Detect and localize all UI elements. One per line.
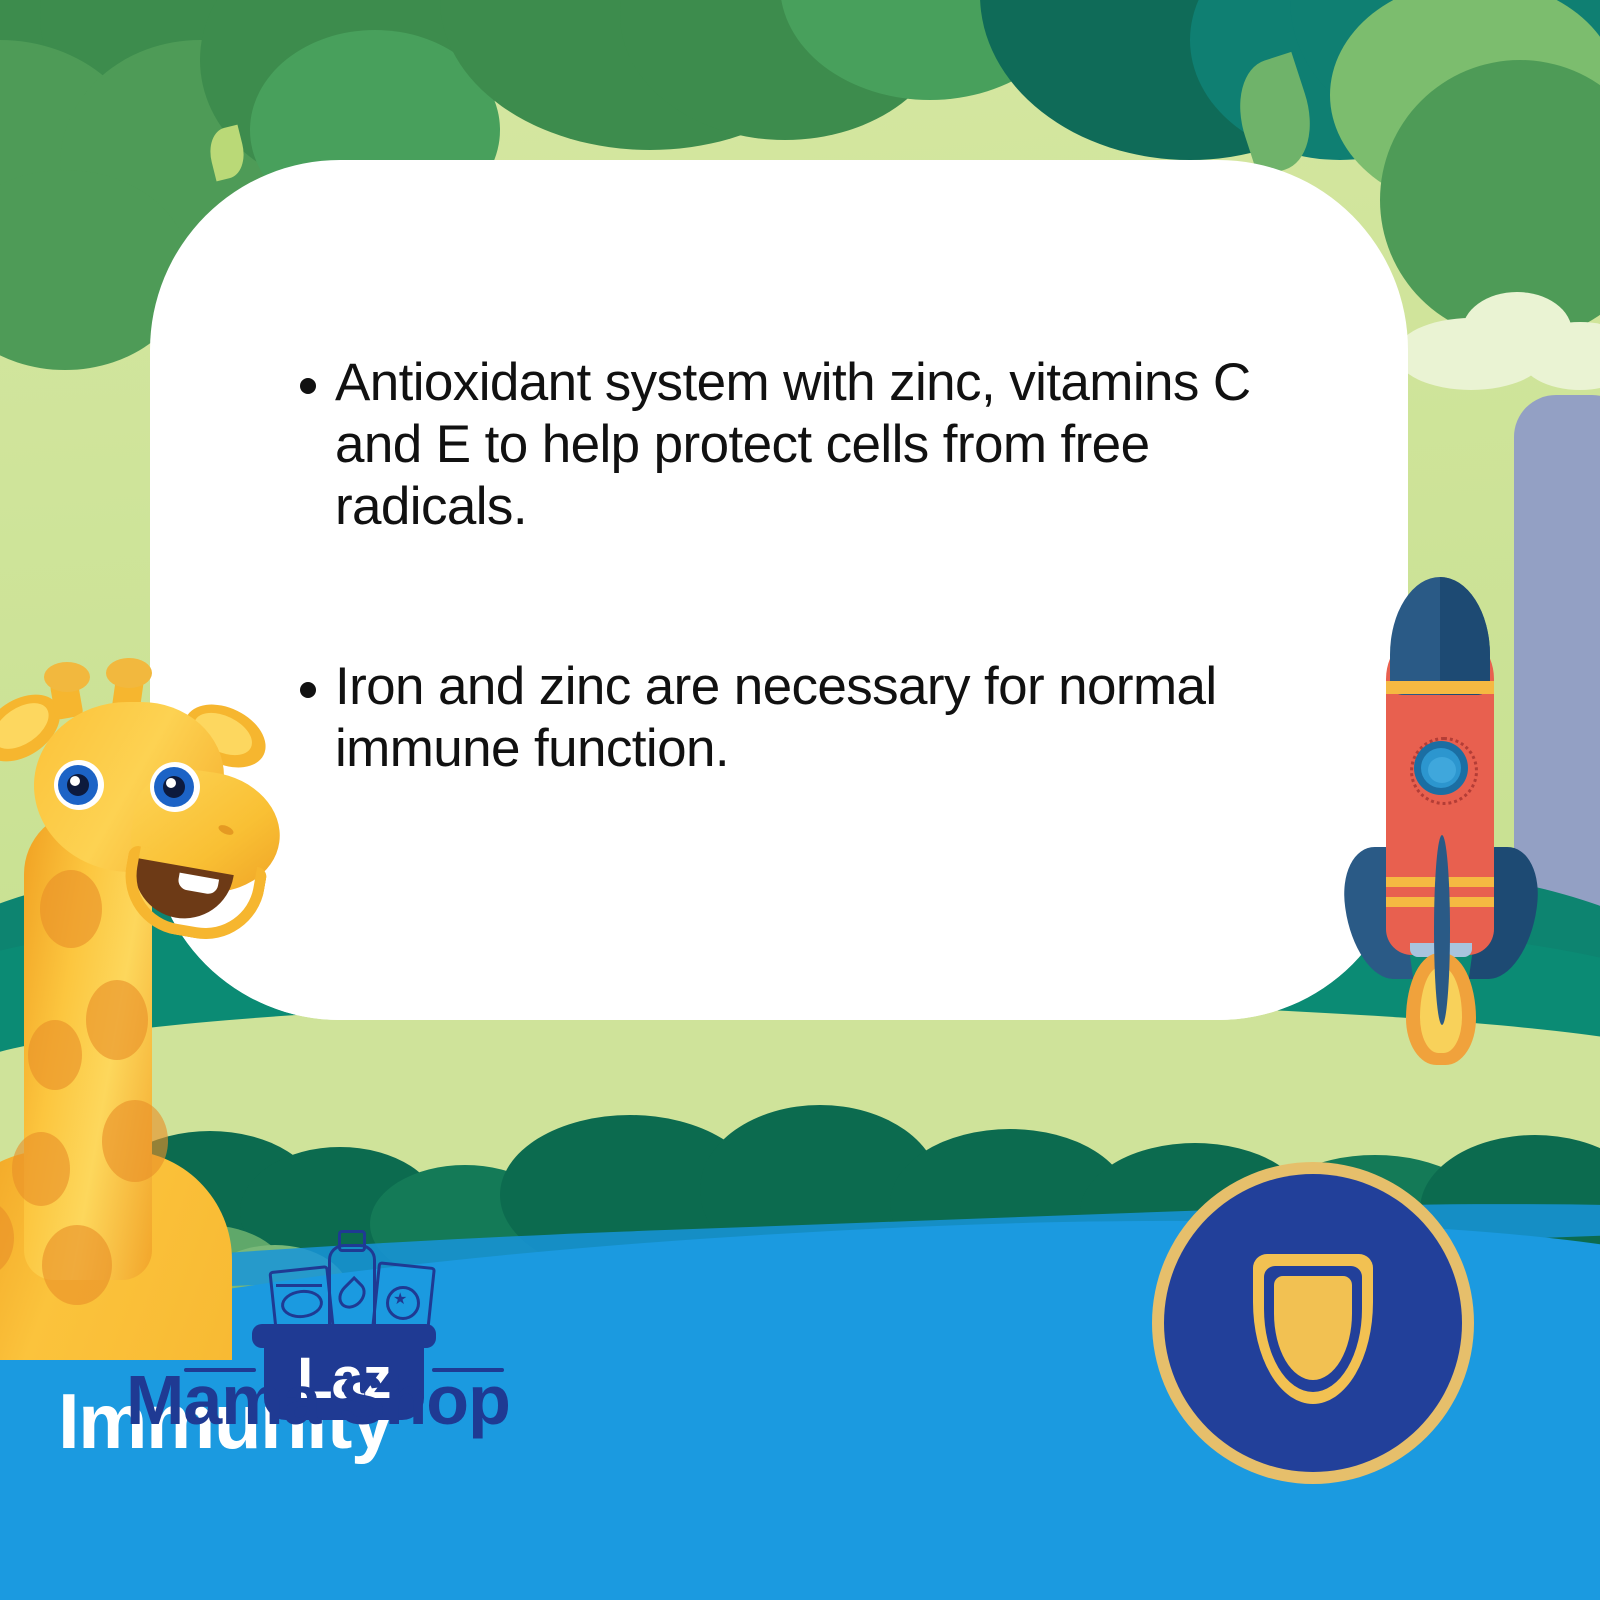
bullet-text: Antioxidant system with zinc, vitamins C…: [335, 352, 1260, 538]
bullet-list: Antioxidant system with zinc, vitamins C…: [300, 352, 1260, 780]
list-item: Antioxidant system with zinc, vitamins C…: [300, 352, 1260, 538]
giraffe-mascot-icon: [0, 680, 312, 1320]
bottle-pump-icon: [338, 1230, 366, 1252]
star-glyph-icon: ★: [393, 1293, 407, 1307]
list-item: Iron and zinc are necessary for normal i…: [300, 656, 1260, 780]
shield-badge: [1152, 1162, 1474, 1484]
badge-inner-circle: [1164, 1174, 1462, 1472]
bullet-dot-icon: [300, 378, 316, 394]
logo-tagline: Mama Shop: [126, 1360, 510, 1440]
product-box-lines: [276, 1272, 322, 1287]
bullet-text: Iron and zinc are necessary for normal i…: [335, 656, 1260, 780]
poster-canvas: Antioxidant system with zinc, vitamins C…: [0, 0, 1600, 1600]
rocket-icon: [1338, 585, 1538, 1055]
